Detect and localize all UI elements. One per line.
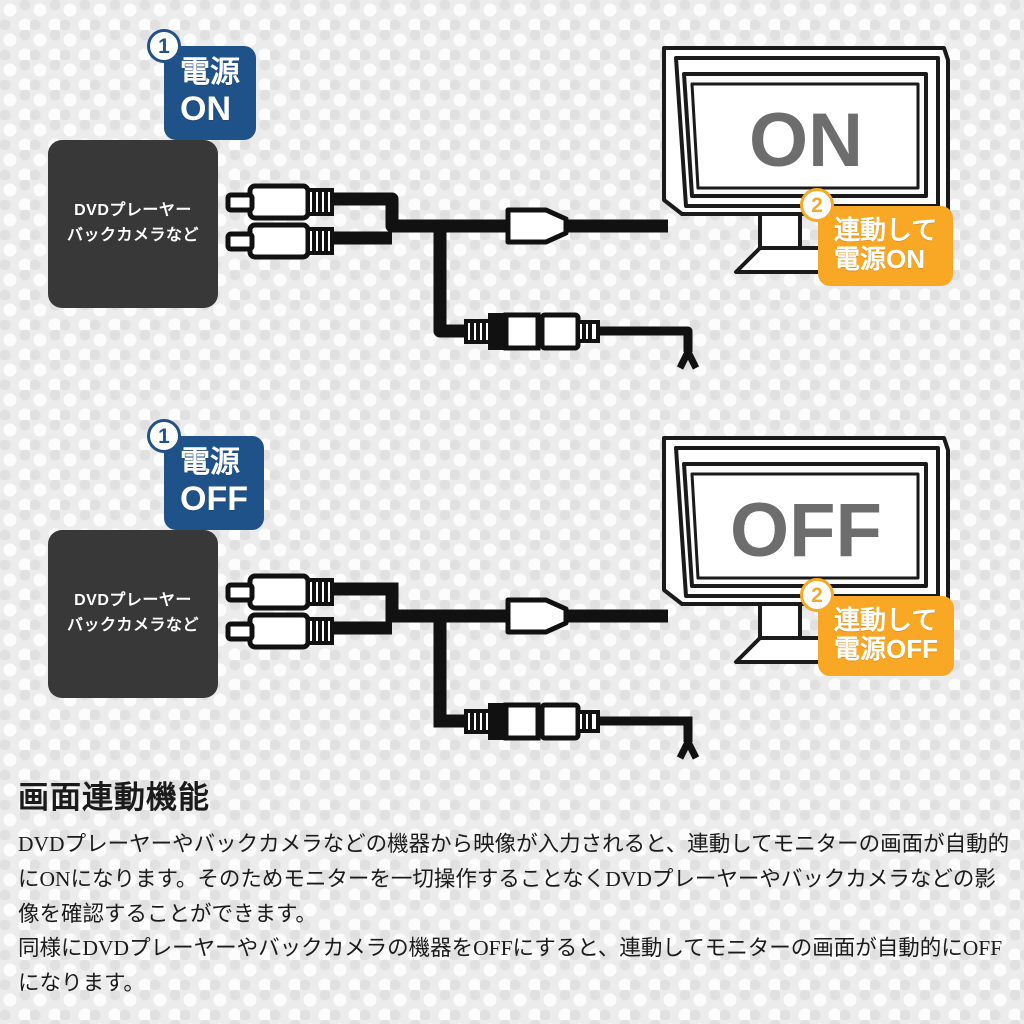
step-number-badge: 1 xyxy=(147,29,181,63)
barrel-connector-icon xyxy=(508,210,566,242)
diagram-section-power-off: DVDプレーヤー バックカメラなど xyxy=(0,390,1024,780)
step-number-badge: 1 xyxy=(147,419,181,453)
mated-connector-icon xyxy=(466,705,598,738)
monitor-screen-label: ON xyxy=(749,98,863,183)
step-2-line2: 電源ON xyxy=(834,245,937,274)
description-block: 画面連動機能 DVDプレーヤーやバックカメラなどの機器から映像が入力されると、連… xyxy=(18,772,1012,1001)
step-2-line1: 連動して xyxy=(834,606,938,635)
step-number-badge: 2 xyxy=(800,188,834,222)
description-paragraph-1: DVDプレーヤーやバックカメラなどの機器から映像が入力されると、連動してモニター… xyxy=(18,827,1012,931)
rca-plug-icon xyxy=(228,225,332,257)
step-2-badge: 2 連動して 電源OFF xyxy=(818,596,954,676)
rca-plug-icon xyxy=(228,576,332,608)
diagram-section-power-on: DVDプレーヤー バックカメラなど xyxy=(0,0,1024,400)
step-1-line1: 電源 xyxy=(180,56,240,90)
mated-connector-icon xyxy=(466,315,598,348)
step-1-badge: 1 電源 ON xyxy=(164,46,256,140)
step-1-badge: 1 電源 OFF xyxy=(164,436,264,530)
step-1-line2: OFF xyxy=(180,480,248,518)
step-2-line2: 電源OFF xyxy=(834,635,938,664)
rca-plug-icon xyxy=(228,186,332,218)
rca-plug-icon xyxy=(228,615,332,647)
step-1-line1: 電源 xyxy=(180,446,248,480)
description-text: DVDプレーヤーやバックカメラなどの機器から映像が入力されると、連動してモニター… xyxy=(18,827,1012,1001)
step-2-badge: 2 連動して 電源ON xyxy=(818,206,953,286)
step-1-line2: ON xyxy=(180,90,240,128)
monitor-screen-label: OFF xyxy=(730,488,882,573)
page-title: 画面連動機能 xyxy=(18,772,1012,817)
barrel-connector-icon xyxy=(508,600,566,632)
step-2-line1: 連動して xyxy=(834,216,937,245)
step-number-badge: 2 xyxy=(800,578,834,612)
description-paragraph-2: 同様にDVDプレーヤーやバックカメラの機器をOFFにすると、連動してモニターの画… xyxy=(18,931,1012,1001)
